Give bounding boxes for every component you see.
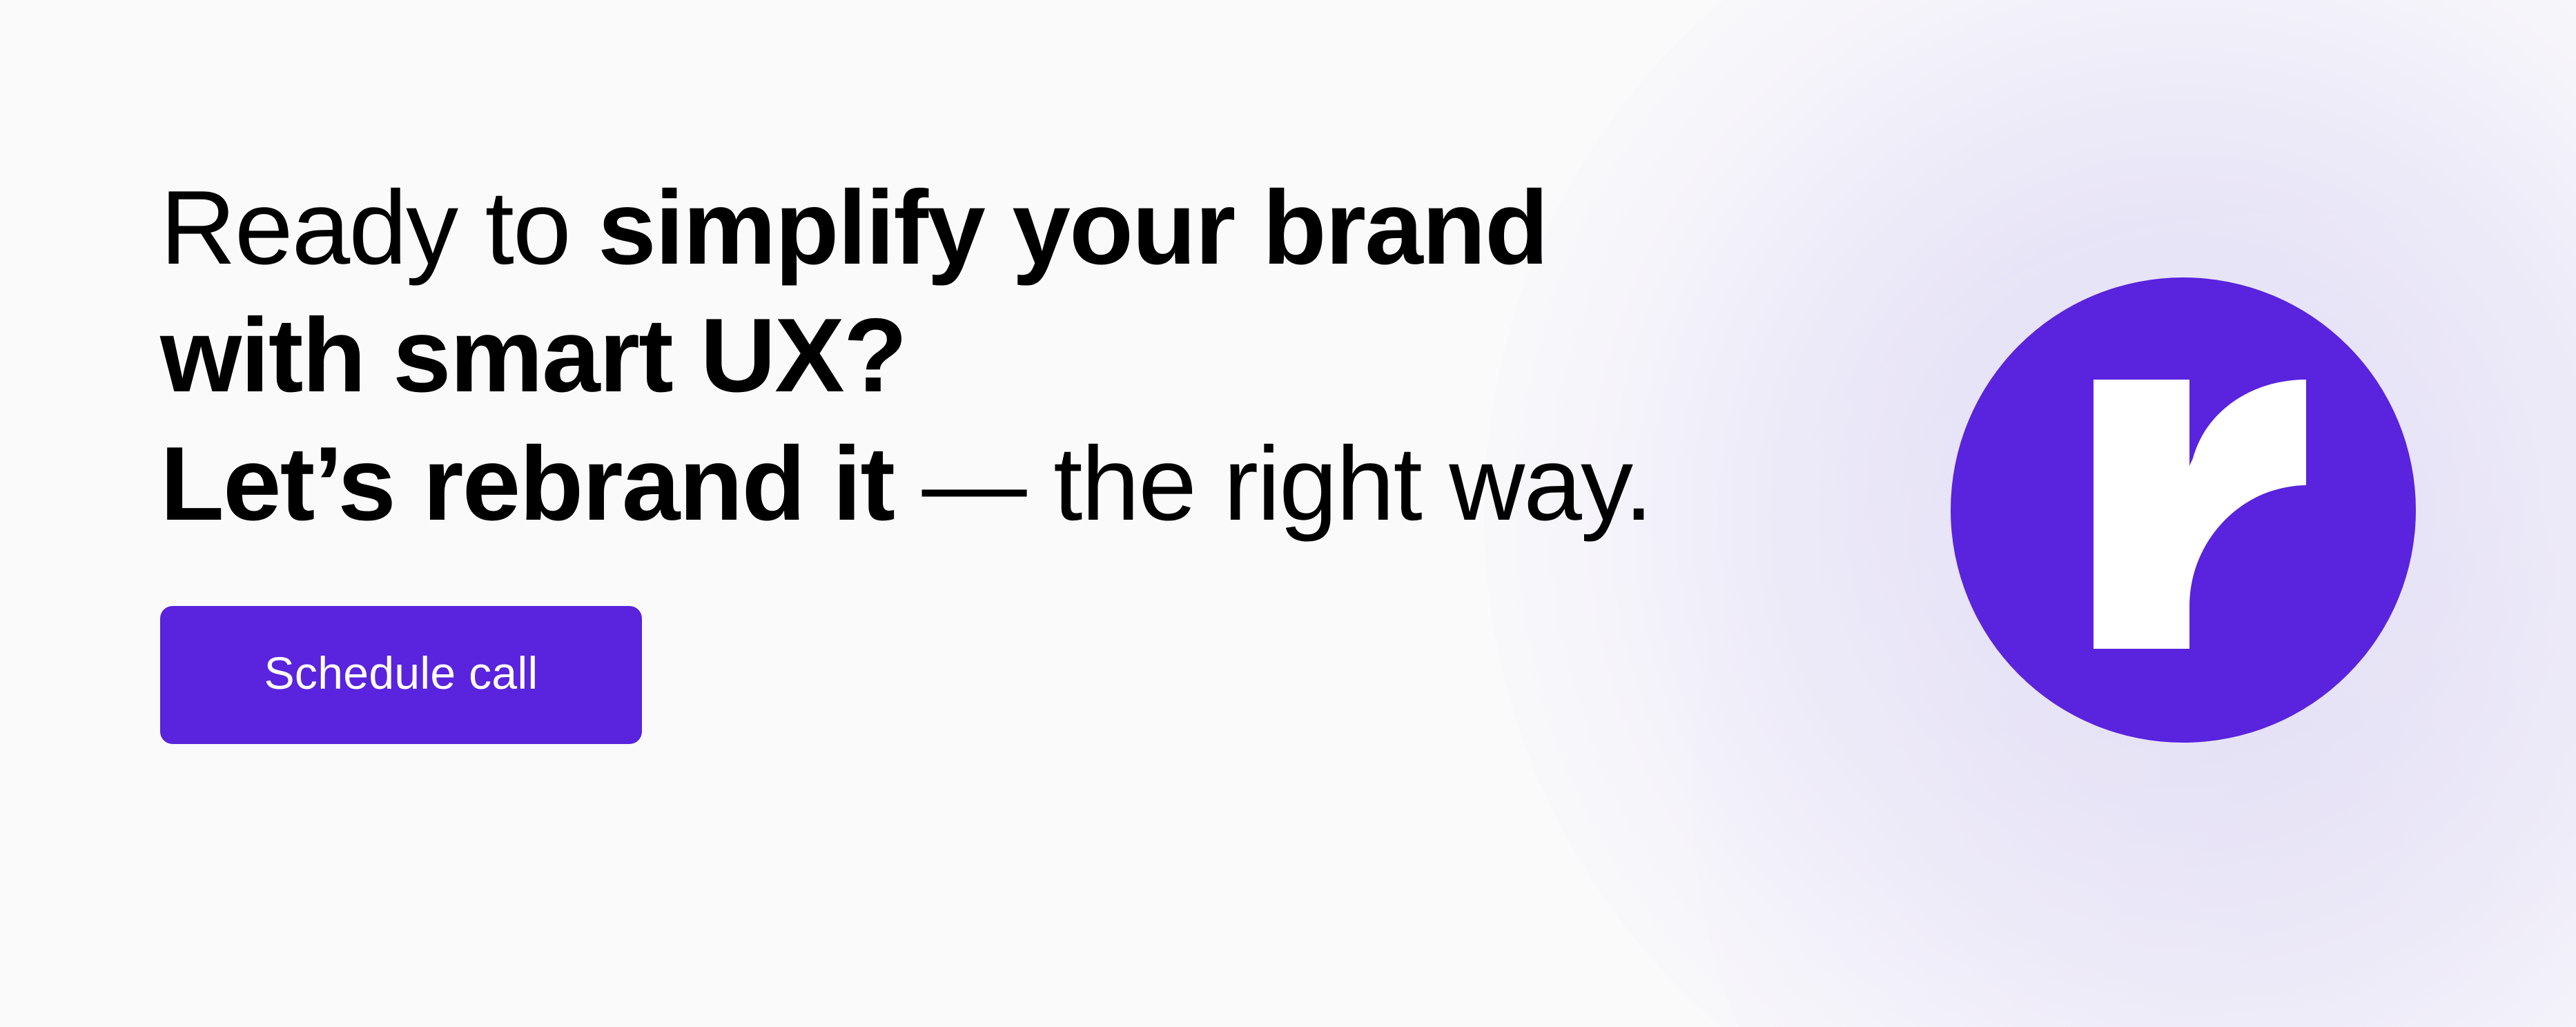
headline-line-2: with smart UX? xyxy=(160,292,1872,420)
headline-line-1-regular: Ready to xyxy=(160,169,598,286)
headline-line-1-bold: simplify your brand xyxy=(598,169,1548,286)
banner-content: Ready to simplify your brand with smart … xyxy=(160,164,1872,744)
headline-line-3: Let’s rebrand it — the right way. xyxy=(160,420,1872,548)
cta-banner: Ready to simplify your brand with smart … xyxy=(0,0,2576,1027)
headline-line-3-bold: Let’s rebrand it xyxy=(160,425,894,542)
headline-line-3-regular: — the right way. xyxy=(894,425,1652,542)
headline-line-2-bold: with smart UX? xyxy=(160,297,906,414)
cta-container: Schedule call xyxy=(160,606,1872,744)
headline: Ready to simplify your brand with smart … xyxy=(160,164,1872,548)
schedule-call-button[interactable]: Schedule call xyxy=(160,606,642,744)
headline-line-1: Ready to simplify your brand xyxy=(160,164,1872,292)
brand-logo-r-icon xyxy=(1951,277,2416,743)
